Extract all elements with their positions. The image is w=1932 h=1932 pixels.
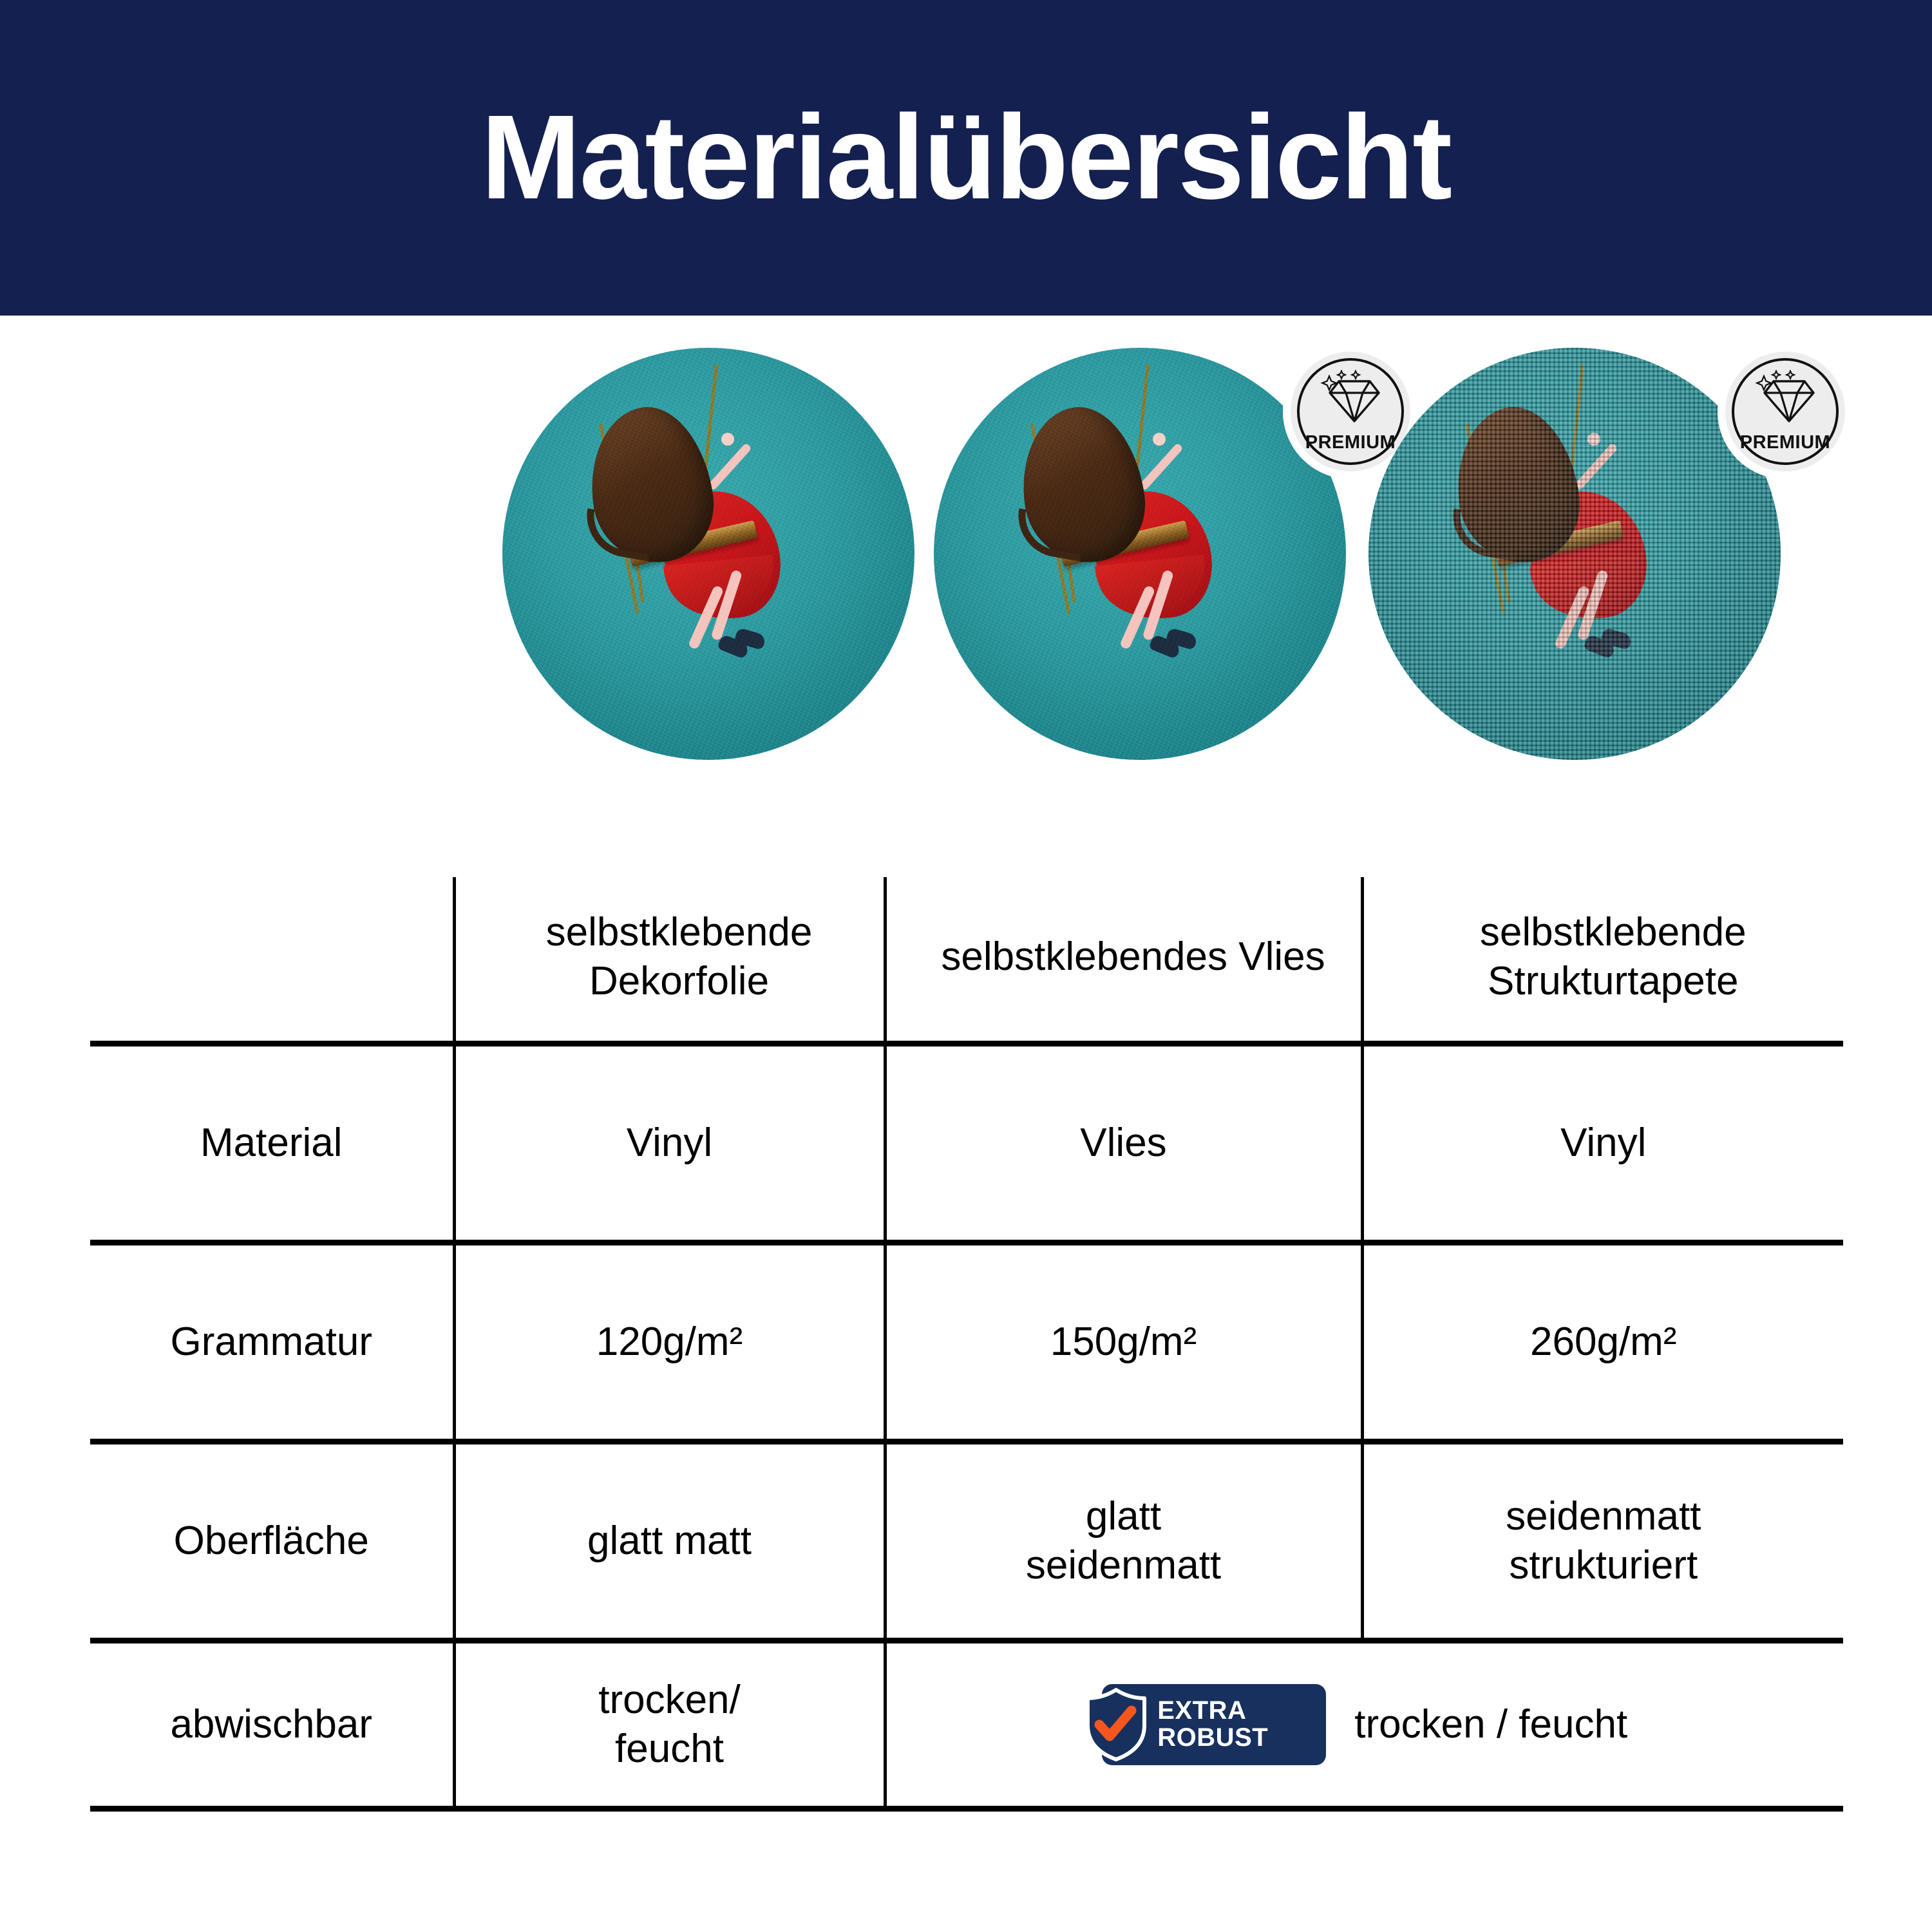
shield-check-icon [1084,1688,1148,1761]
premium-badge: PREMIUM [1718,344,1853,479]
swing-rope-left [1465,424,1505,614]
cell-abwischbar-dekorfolie: trocken/ feucht [454,1641,885,1809]
swing-rope-left [1030,424,1070,614]
cell-abwischbar-text: trocken / feucht [1354,1700,1627,1749]
column-header-strukturtapete: selbstklebende Strukturtapete [1362,877,1843,1044]
girl-hair-strand [1446,508,1522,562]
girl-shoe-right [1600,627,1633,650]
girl-hand-right [1587,433,1600,446]
cell-oberflaeche-vlies: glatt seidenmatt [885,1442,1362,1641]
cell-grammatur-strukturtapete: 260g/m² [1362,1243,1843,1442]
girl-hair-strand [580,508,656,562]
header-band: Materialübersicht [0,0,1932,316]
preview-image-dekorfolie [502,348,914,760]
girl-hair [1012,399,1153,571]
girl-hair [1447,399,1587,571]
girl-arm-left [1479,478,1537,510]
dress-highlight [701,501,760,580]
row-label-oberflaeche: Oberfläche [90,1442,454,1641]
table-row: Material Vinyl Vlies Vinyl [90,1044,1843,1243]
swing-rope-right [1561,365,1584,557]
swing-rope-right [695,365,718,557]
girl-hair-strand [1012,508,1087,562]
girl-dress [655,483,788,627]
girl-shoe-left [1583,634,1616,659]
girl-leg-left [1119,585,1156,650]
swing-seat [1059,520,1189,567]
cell-material-vlies: Vlies [885,1044,1362,1243]
girl-leg-left [688,585,724,650]
swing-rope-left-lower [629,513,644,602]
girl-hand-left [1028,500,1041,513]
robust-line-2: ROBUST [1157,1723,1268,1752]
robust-cell-content: EXTRAROBUST trocken / feucht [887,1684,1844,1765]
girl-dress [1086,483,1219,627]
girl-shoe-right [734,627,767,650]
swing-rope-left [599,424,639,614]
girl-hand-right [721,433,734,446]
row-label-abwischbar: abwischbar [90,1641,454,1809]
girl-dress-flare [1529,554,1644,621]
table-row: Oberfläche glatt matt glatt seidenmatt s… [90,1442,1843,1641]
table-header-row: selbstklebende Dekorfolie selbstklebende… [90,877,1843,1044]
cell-grammatur-dekorfolie: 120g/m² [454,1243,885,1442]
diamond-icon [1754,370,1816,430]
artwork-girl-on-swing [502,348,914,760]
cell-oberflaeche-dekorfolie: glatt matt [454,1442,885,1641]
table-corner-cell [90,877,454,1044]
material-comparison-table: selbstklebende Dekorfolie selbstklebende… [90,877,1843,1812]
table-row: Grammatur 120g/m² 150g/m² 260g/m² [90,1243,1843,1442]
row-label-material: Material [90,1044,454,1243]
swing-rope-left-lower [1060,513,1075,602]
girl-leg-right [710,569,743,641]
preview-dekorfolie[interactable] [502,348,914,760]
girl-hair [581,399,721,571]
girl-arm-left [613,478,670,510]
premium-badge-label: PREMIUM [1740,432,1830,453]
cell-material-strukturtapete: Vinyl [1362,1044,1843,1243]
girl-shoe-right [1166,627,1198,650]
extra-robust-badge: EXTRAROBUST [1102,1684,1326,1765]
swing-rope-right-lower [724,501,739,591]
cell-oberflaeche-strukturtapete: seidenmatt strukturiert [1362,1442,1843,1641]
preview-strukturtapete[interactable]: PREMIUM [1368,348,1781,760]
girl-arm-right [1139,442,1184,491]
column-header-dekorfolie: selbstklebende Dekorfolie [454,877,885,1044]
girl-arm-right [1573,442,1618,491]
swing-seat [1494,520,1624,567]
girl-leg-left [1554,585,1591,650]
dress-highlight [1133,501,1191,580]
girl-hand-left [1463,500,1475,513]
page-title: Materialübersicht [481,98,1451,218]
extra-robust-label: EXTRAROBUST [1157,1698,1268,1751]
girl-hand-right [1153,433,1166,446]
girl-shoe-left [717,634,750,659]
girl-arm-right [707,442,752,491]
table-row: abwischbar trocken/ feucht EXTRAROBUST t… [90,1641,1843,1809]
column-header-vlies: selbstklebendes Vlies [885,877,1362,1044]
dress-highlight [1567,501,1626,580]
girl-dress-flare [663,554,778,621]
swing-rope-right-lower [1591,501,1605,591]
preview-vlies[interactable]: PREMIUM [934,348,1346,760]
girl-arm-left [1045,478,1102,510]
cell-material-dekorfolie: Vinyl [454,1044,885,1243]
girl-leg-right [1142,569,1174,641]
cell-grammatur-vlies: 150g/m² [885,1243,1362,1442]
swing-rope-right-lower [1156,501,1170,591]
girl-hand-left [596,500,609,513]
swing-rope-left-lower [1495,513,1510,602]
row-label-grammatur: Grammatur [90,1243,454,1442]
swing-seat [628,520,757,567]
cell-abwischbar-merged: EXTRAROBUST trocken / feucht [885,1641,1843,1809]
girl-dress-flare [1095,554,1209,621]
girl-dress [1521,483,1654,627]
product-preview-row: PREMIUM [0,348,1932,786]
girl-leg-right [1577,569,1609,641]
robust-line-1: EXTRA [1157,1696,1246,1725]
girl-shoe-left [1148,634,1182,659]
swing-rope-right [1126,365,1150,557]
